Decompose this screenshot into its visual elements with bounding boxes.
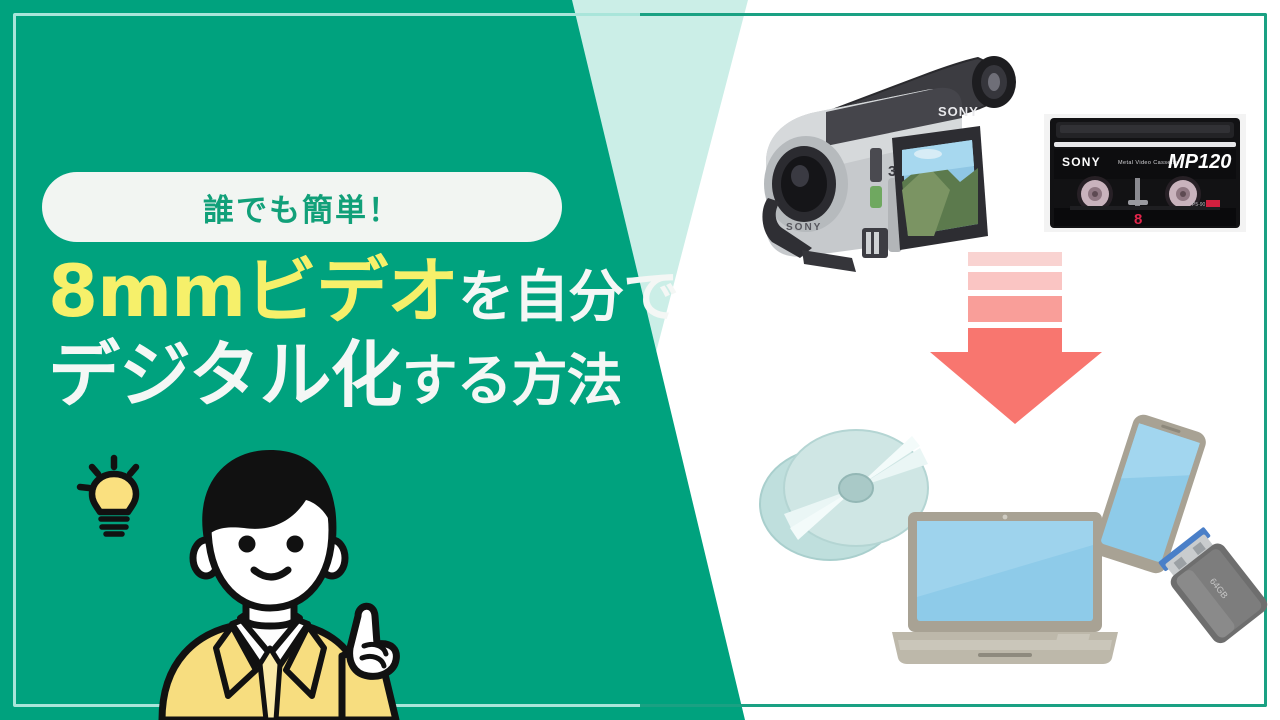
cassette-format-mark: 8 (1134, 211, 1142, 228)
camcorder-lcd-screen (902, 140, 978, 236)
cassette-brand: SONY (1062, 155, 1101, 169)
svg-text:SONY: SONY (786, 222, 822, 233)
page-title-line2: デジタル化する方法 (48, 339, 708, 411)
eyebrow-badge-label: 誰でも簡単！ (203, 185, 401, 230)
eyebrow-badge: 誰でも簡単！ (42, 172, 562, 242)
page-title-line1: 8mmビデオを自分で (48, 255, 708, 327)
sony-handycam-camcorder-photo: 30 x SONY SONY (742, 32, 1032, 280)
laptop-computer-icon (890, 512, 1120, 672)
page-title-highlight-1: 8mmビデオ (48, 249, 458, 333)
arrow-segment-1 (968, 252, 1062, 266)
sony-8mm-video-cassette-photo: SONY Metal Video Cassette MP120 8 P5-90 (1040, 108, 1250, 238)
thumbnail-canvas: 誰でも簡単！ 8mmビデオを自分で デジタル化する方法 (0, 0, 1280, 720)
arrow-segment-3 (968, 296, 1062, 322)
page-title-rest-2: する方法 (402, 349, 622, 414)
cassette-model: MP120 (1168, 151, 1231, 173)
arrow-segment-2 (968, 272, 1062, 290)
svg-text:SONY: SONY (938, 104, 979, 119)
page-title-rest-1: を自分で (458, 265, 678, 330)
down-arrow (938, 252, 1118, 424)
page-title-highlight-2: デジタル化 (48, 333, 402, 417)
usb-flash-drive-icon: 64GB (1158, 530, 1273, 640)
person-pointing-icon (120, 448, 420, 720)
svg-text:P5-90: P5-90 (1192, 202, 1206, 208)
page-title: 8mmビデオを自分で デジタル化する方法 (48, 255, 708, 411)
